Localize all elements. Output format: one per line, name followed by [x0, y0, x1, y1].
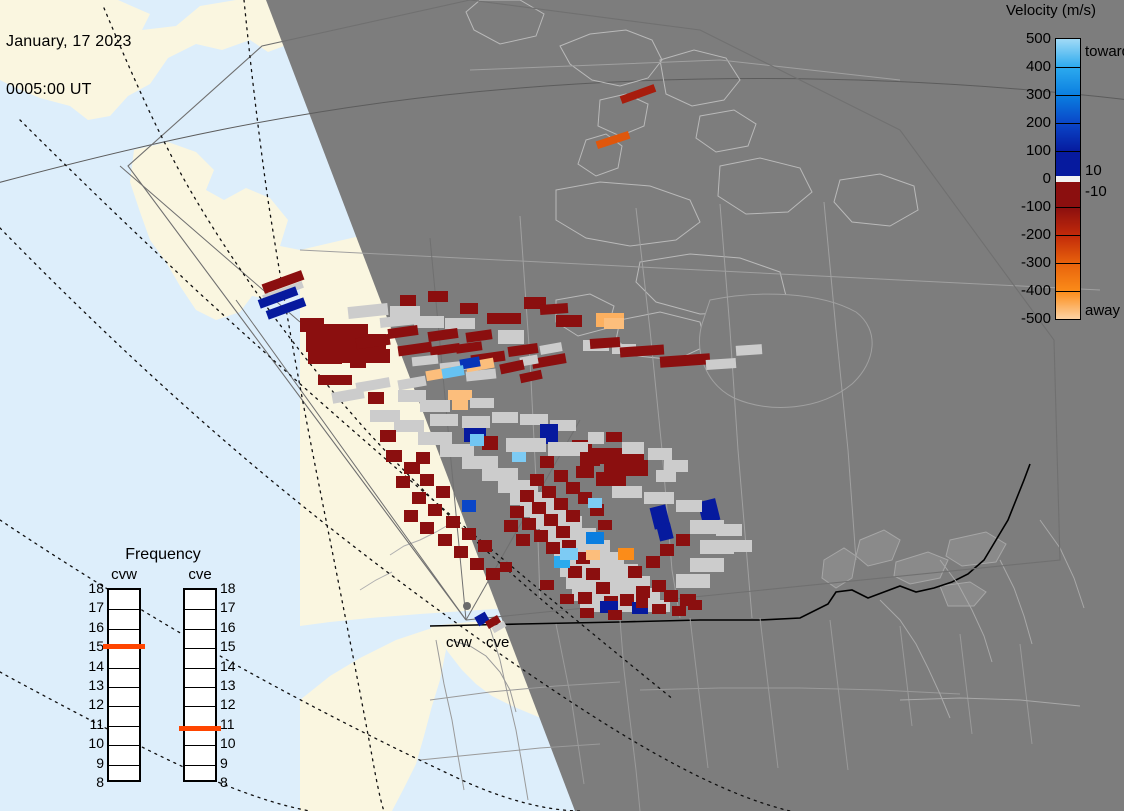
- radar-cell: [560, 548, 578, 560]
- radar-cell: [462, 500, 476, 512]
- radar-cell: [478, 540, 492, 552]
- radar-cell: [504, 520, 518, 532]
- radar-site-marker: [463, 602, 471, 610]
- velocity-legend-title: Velocity (m/s): [978, 2, 1124, 19]
- plot-time: 0005:00 UT: [6, 82, 132, 98]
- colorbar-tick-label: 200: [971, 115, 1051, 130]
- colorbar-tick-label: 400: [971, 59, 1051, 74]
- colorbar-separator: [1056, 95, 1080, 96]
- radar-cell: [438, 534, 452, 546]
- radar-cell: [612, 486, 642, 498]
- colorbar-tick-label: -100: [971, 199, 1051, 214]
- radar-cell: [350, 356, 366, 368]
- radar-cell: [730, 540, 752, 552]
- station-label-cvw: cvw: [446, 634, 472, 651]
- radar-cell: [676, 574, 710, 588]
- radar-cell: [556, 526, 570, 538]
- radar-cell: [300, 318, 324, 332]
- radar-cell: [482, 436, 498, 450]
- frequency-grid-line: [185, 745, 215, 746]
- radar-cell: [586, 550, 600, 560]
- frequency-grid-line: [185, 687, 215, 688]
- frequency-grid-line: [109, 706, 139, 707]
- frequency-grid-line: [185, 648, 215, 649]
- frequency-tick-label: 8: [82, 775, 104, 789]
- radar-cell: [420, 474, 434, 486]
- radar-cell: [576, 466, 594, 478]
- frequency-grid-line: [109, 609, 139, 610]
- radar-cell: [482, 468, 518, 481]
- colorbar-separator: [1056, 67, 1080, 68]
- colorbar-tick-label: 300: [971, 87, 1051, 102]
- radar-cell: [436, 486, 450, 498]
- velocity-colorbar-legend: Velocity (m/s) 5004003002001000-100-200-…: [966, 0, 1124, 332]
- frequency-tick-label: 10: [220, 736, 242, 750]
- colorbar-tick-label: 0: [971, 171, 1051, 186]
- radar-cell: [440, 444, 474, 457]
- radar-cell: [522, 518, 536, 530]
- radar-cell: [400, 295, 416, 307]
- frequency-grid-line: [109, 726, 139, 727]
- radar-cell: [412, 492, 426, 504]
- frequency-tick-label: 15: [220, 639, 242, 653]
- frequency-grid-line: [109, 765, 139, 766]
- superdarn-fan-plot: January, 17 2023 0005:00 UT Velocity (m/…: [0, 0, 1124, 811]
- radar-cell: [588, 498, 602, 508]
- radar-cell: [510, 506, 524, 518]
- radar-cell: [542, 486, 556, 498]
- radar-cell: [596, 472, 626, 486]
- radar-cell: [540, 303, 569, 315]
- radar-cell: [414, 316, 444, 328]
- radar-cell: [470, 558, 484, 570]
- frequency-tick-label: 15: [82, 639, 104, 653]
- radar-cell: [664, 590, 678, 602]
- radar-cell: [636, 586, 650, 598]
- radar-cell: [618, 548, 634, 560]
- radar-cell: [700, 540, 734, 554]
- radar-cell: [306, 330, 336, 352]
- radar-cell: [580, 608, 594, 618]
- radar-cell: [648, 448, 672, 460]
- frequency-tick-label: 16: [220, 620, 242, 634]
- frequency-tick-label: 8: [220, 775, 242, 789]
- frequency-grid-line: [185, 609, 215, 610]
- radar-cell: [506, 438, 546, 452]
- radar-cell: [492, 412, 518, 423]
- frequency-tick-label: 9: [82, 756, 104, 770]
- radar-cell: [706, 358, 737, 370]
- frequency-tick-label: 17: [82, 600, 104, 614]
- frequency-grid-line: [185, 706, 215, 707]
- radar-cell: [520, 414, 548, 425]
- radar-cell: [498, 330, 524, 344]
- frequency-grid-line: [185, 668, 215, 669]
- radar-cell: [566, 510, 580, 522]
- radar-cell: [586, 568, 600, 580]
- colorbar-separator: [1056, 123, 1080, 124]
- frequency-grid-line: [109, 745, 139, 746]
- frequency-tick-label: 18: [220, 581, 242, 595]
- radar-cell: [540, 580, 554, 590]
- frequency-tick-label: 13: [220, 678, 242, 692]
- radar-cell: [460, 303, 478, 314]
- radar-cell: [716, 524, 742, 536]
- frequency-tick-label: 10: [82, 736, 104, 750]
- radar-cell: [404, 510, 418, 522]
- frequency-tick-label: 11: [82, 717, 104, 731]
- radar-cell: [646, 556, 660, 568]
- radar-cell: [470, 398, 494, 408]
- radar-cell: [462, 528, 476, 540]
- radar-cell: [620, 594, 634, 606]
- radar-cell: [636, 598, 648, 608]
- plot-date: January, 17 2023: [6, 34, 132, 50]
- radar-cell: [566, 482, 580, 494]
- radar-cell: [604, 318, 624, 329]
- frequency-tick-label: 9: [220, 756, 242, 770]
- radar-cell: [308, 352, 342, 364]
- colorbar-tick-label: -200: [971, 227, 1051, 242]
- colorbar-separator: [1056, 263, 1080, 264]
- radar-cell: [596, 582, 610, 594]
- frequency-grid-line: [109, 629, 139, 630]
- radar-cell: [628, 566, 642, 578]
- radar-cell: [512, 452, 526, 462]
- radar-cell: [386, 450, 402, 462]
- colorbar-tick-label: -400: [971, 283, 1051, 298]
- radar-cell: [554, 498, 568, 510]
- radar-cell: [586, 532, 604, 544]
- radar-cell: [676, 500, 702, 512]
- radar-cell: [568, 566, 582, 578]
- radar-cell: [418, 432, 452, 445]
- radar-cell: [546, 542, 560, 554]
- radar-cell: [428, 291, 448, 302]
- radar-cell: [516, 534, 530, 546]
- frequency-grid-line: [109, 668, 139, 669]
- radar-cell: [487, 313, 521, 324]
- radar-cell: [598, 520, 612, 530]
- timestamp-block: January, 17 2023 0005:00 UT: [6, 2, 132, 130]
- colorbar-zero-notch: [1056, 176, 1080, 182]
- radar-cell: [534, 530, 548, 542]
- radar-cell: [652, 604, 666, 614]
- radar-cell: [660, 544, 674, 556]
- frequency-marker-cvw: [103, 644, 145, 649]
- frequency-tick-label: 18: [82, 581, 104, 595]
- frequency-grid-line: [185, 765, 215, 766]
- radar-cell: [690, 558, 724, 572]
- colorbar-tick-label: -500: [971, 311, 1051, 326]
- radar-cell: [656, 470, 676, 482]
- radar-cell: [540, 456, 554, 468]
- radar-cell: [532, 502, 546, 514]
- colorbar-band: [1056, 318, 1080, 319]
- velocity-colorbar: [1055, 38, 1081, 320]
- station-label-cve: cve: [486, 634, 509, 651]
- colorbar-tick-label: 500: [971, 31, 1051, 46]
- radar-cell: [676, 534, 690, 546]
- radar-cell: [462, 416, 490, 428]
- colorbar-separator: [1056, 291, 1080, 292]
- frequency-tick-label: 13: [82, 678, 104, 692]
- radar-cell: [688, 600, 702, 610]
- radar-cell: [588, 432, 604, 444]
- velocity-tick-labels: 5004003002001000-100-200-300-400-500: [966, 30, 1051, 330]
- frequency-tick-label: 16: [82, 620, 104, 634]
- radar-cell: [396, 476, 410, 488]
- colorbar-separator: [1056, 151, 1080, 152]
- radar-cell: [445, 318, 475, 329]
- radar-cell: [380, 430, 396, 442]
- frequency-column-label-cve: cve: [180, 566, 220, 583]
- frequency-tick-label: 12: [220, 697, 242, 711]
- frequency-tick-label: 11: [220, 717, 242, 731]
- frequency-marker-cve: [179, 726, 221, 731]
- radar-cell: [446, 516, 460, 528]
- frequency-grid-line: [109, 687, 139, 688]
- frequency-tick-label: 14: [220, 659, 242, 673]
- radar-cell: [580, 452, 600, 466]
- frequency-tick-label: 17: [220, 600, 242, 614]
- radar-cell: [462, 456, 498, 469]
- radar-cell: [500, 562, 512, 572]
- colorbar-tick-label: 100: [971, 143, 1051, 158]
- radar-cell: [318, 375, 352, 385]
- radar-cell: [590, 337, 621, 349]
- radar-cell: [530, 474, 544, 486]
- radar-cell: [672, 606, 686, 616]
- radar-cell: [622, 442, 644, 454]
- radar-cell: [454, 546, 468, 558]
- velocity-zero-lower-label: -10: [1085, 184, 1107, 199]
- colorbar-tick-label: -300: [971, 255, 1051, 270]
- radar-cell: [428, 504, 442, 516]
- radar-cell: [452, 398, 468, 410]
- radar-cell: [560, 594, 574, 604]
- radar-cell: [606, 432, 622, 442]
- frequency-tick-label: 12: [82, 697, 104, 711]
- radar-cell: [486, 568, 500, 580]
- radar-cell: [368, 392, 384, 404]
- frequency-legend: Frequency cvw cve 18171615141312111098 1…: [88, 546, 238, 794]
- frequency-grid-line: [185, 629, 215, 630]
- radar-cell: [556, 315, 582, 327]
- radar-cell: [420, 400, 450, 412]
- radar-cell: [578, 592, 592, 604]
- frequency-legend-title: Frequency: [88, 546, 238, 564]
- colorbar-separator: [1056, 235, 1080, 236]
- radar-cell: [544, 514, 558, 526]
- velocity-toward-label: toward: [1085, 44, 1124, 59]
- radar-cell: [470, 434, 484, 446]
- velocity-away-label: away: [1085, 303, 1120, 318]
- radar-cell: [430, 414, 458, 426]
- radar-cell: [520, 490, 534, 502]
- radar-cell: [416, 452, 430, 464]
- velocity-zero-upper-label: 10: [1085, 163, 1102, 178]
- radar-cell: [554, 470, 568, 482]
- colorbar-separator: [1056, 207, 1080, 208]
- frequency-tick-label: 14: [82, 659, 104, 673]
- radar-cell: [394, 420, 424, 432]
- frequency-bar-cvw: [107, 588, 141, 782]
- frequency-column-label-cvw: cvw: [104, 566, 144, 583]
- radar-cell: [736, 344, 763, 356]
- radar-cell: [652, 580, 666, 592]
- radar-cell: [644, 492, 674, 504]
- radar-cell: [420, 522, 434, 534]
- radar-cell: [608, 610, 622, 620]
- frequency-bar-cve: [183, 588, 217, 782]
